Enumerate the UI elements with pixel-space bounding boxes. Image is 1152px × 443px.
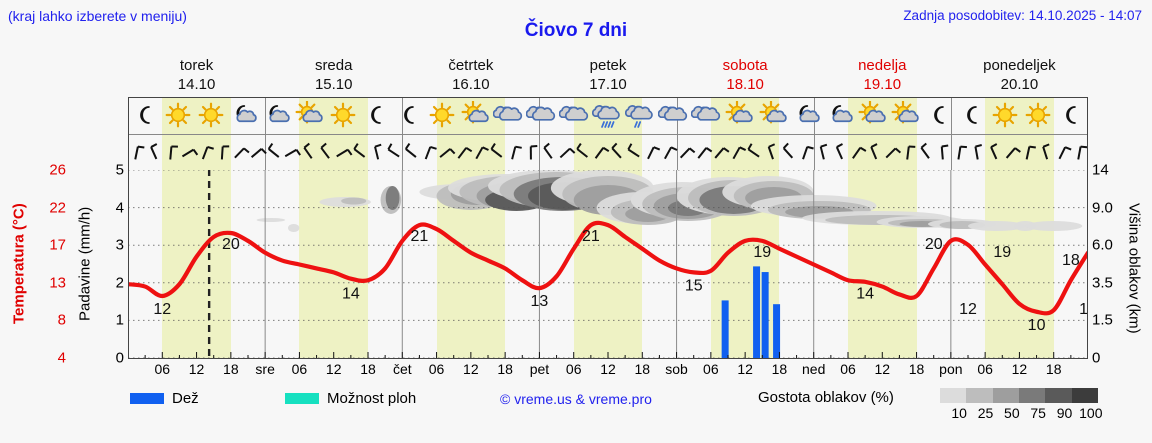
cloud-height-axis-title: Višina oblakov (km) xyxy=(1120,168,1148,368)
x-tick-label: 12 xyxy=(326,361,342,377)
moon-icon xyxy=(956,100,989,132)
rain-bar xyxy=(773,304,780,359)
temperature-label: 21 xyxy=(411,228,429,245)
temperature-label: 19 xyxy=(993,244,1011,261)
cloud-density-tick: 10 xyxy=(951,405,967,421)
cloud-density-scale-numbers: 1025507590100 xyxy=(936,405,1108,423)
cloud-drizzle-icon xyxy=(625,100,658,132)
showers-color-swatch xyxy=(285,393,319,404)
x-tick-label: 18 xyxy=(634,361,650,377)
temperature-label: 20 xyxy=(925,236,943,253)
legend-item-showers: Možnost ploh xyxy=(285,390,416,407)
temperature-label: 13 xyxy=(531,293,549,310)
precipitation-tick: 4 xyxy=(116,199,124,216)
rain-bar xyxy=(753,266,760,359)
cloud-height-tick: 14 xyxy=(1092,162,1109,179)
moon-icon xyxy=(1055,100,1088,132)
cloud-density-tick: 100 xyxy=(1079,405,1102,421)
temperature-axis-title: Temperatura (°C) xyxy=(6,168,32,360)
x-tick-label: 18 xyxy=(360,361,376,377)
x-tick-label: 18 xyxy=(223,361,239,377)
day-name: ponedeljek xyxy=(951,56,1088,75)
day-header-row: torek14.10sreda15.10četrtek16.10petek17.… xyxy=(128,56,1088,96)
x-tick-label: 06 xyxy=(154,361,170,377)
cloud-density-tick: 50 xyxy=(1004,405,1020,421)
forecast-graph: 122014211321151914201219101812 xyxy=(128,170,1088,359)
day-header-ponedeljek: ponedeljek20.10 xyxy=(951,56,1088,96)
cloud-density-swatch xyxy=(1072,388,1098,403)
temperature-tick: 8 xyxy=(58,312,66,329)
x-tick-label: čet xyxy=(393,361,412,377)
day-date: 20.10 xyxy=(951,75,1088,94)
day-name: nedelja xyxy=(814,56,951,75)
rain-bar xyxy=(722,300,729,359)
x-tick-label: 18 xyxy=(1046,361,1062,377)
temperature-label: 12 xyxy=(959,301,977,318)
temperature-label: 10 xyxy=(1028,317,1046,334)
temperature-tick: 17 xyxy=(49,237,66,254)
temperature-label: 20 xyxy=(222,236,240,253)
chart-canvas: 122014211321151914201219101812 xyxy=(128,170,1088,359)
cloud-rain-icon xyxy=(591,100,624,132)
temperature-label: 18 xyxy=(1062,252,1080,269)
sun-icon xyxy=(194,100,227,132)
day-header-četrtek: četrtek16.10 xyxy=(402,56,539,96)
cloud-density-tick: 25 xyxy=(978,405,994,421)
cloud-density-layer xyxy=(257,170,1083,232)
x-tick-label: sre xyxy=(255,361,274,377)
temperature-label: 14 xyxy=(342,285,360,302)
x-tick-label: 06 xyxy=(429,361,445,377)
day-header-torek: torek14.10 xyxy=(128,56,265,96)
cloud-icon xyxy=(492,100,525,132)
x-tick-label: 12 xyxy=(189,361,205,377)
cloud-density-swatch xyxy=(1019,388,1045,403)
cloud-height-tick: 9.0 xyxy=(1092,199,1113,216)
sun-icon xyxy=(1022,100,1055,132)
precipitation-tick: 5 xyxy=(116,162,124,179)
day-date: 16.10 xyxy=(402,75,539,94)
x-tick-label: sob xyxy=(665,361,688,377)
moon-icon xyxy=(922,100,955,132)
legend-label-showers: Možnost ploh xyxy=(327,390,416,407)
wind-barb-row xyxy=(128,135,1088,170)
temperature-label: 12 xyxy=(153,301,171,318)
sun-icon xyxy=(161,100,194,132)
rain-bar xyxy=(762,272,769,359)
precipitation-tick: 3 xyxy=(116,237,124,254)
x-tick-label: ned xyxy=(802,361,825,377)
day-name: sobota xyxy=(677,56,814,75)
legend: Dež Možnost ploh © vreme.us & vreme.pro … xyxy=(130,388,1142,430)
cloud-density-label: Gostota oblakov (%) xyxy=(758,389,894,406)
sun-cloud-icon xyxy=(459,100,492,132)
temperature-axis-ticks: 2622171384 xyxy=(32,160,66,368)
cloud-icon xyxy=(558,100,591,132)
day-name: petek xyxy=(539,56,676,75)
legend-item-rain: Dež xyxy=(130,390,199,407)
day-date: 15.10 xyxy=(265,75,402,94)
day-name: torek xyxy=(128,56,265,75)
x-axis-labels: 061218sre061218čet061218pet061218sob0612… xyxy=(128,361,1088,381)
day-date: 14.10 xyxy=(128,75,265,94)
moon-cloud-icon xyxy=(260,100,293,132)
sun-icon xyxy=(327,100,360,132)
rain-bars xyxy=(722,266,780,359)
day-header-sreda: sreda15.10 xyxy=(265,56,402,96)
cloud-density-tick: 75 xyxy=(1030,405,1046,421)
x-tick-label: 18 xyxy=(772,361,788,377)
x-tick-label: 18 xyxy=(909,361,925,377)
precipitation-tick: 0 xyxy=(116,350,124,367)
cloud-density-tick: 90 xyxy=(1057,405,1073,421)
cloud-density-scale xyxy=(940,388,1098,403)
moon-cloud-icon xyxy=(823,100,856,132)
sun-cloud-icon xyxy=(856,100,889,132)
sun-icon xyxy=(426,100,459,132)
weather-icon-row xyxy=(128,97,1088,135)
temperature-tick: 22 xyxy=(49,199,66,216)
cloud-height-tick: 6.0 xyxy=(1092,237,1113,254)
sun-icon xyxy=(989,100,1022,132)
x-tick-label: pet xyxy=(530,361,549,377)
wind-barbs xyxy=(128,135,1088,170)
sun-cloud-icon xyxy=(294,100,327,132)
temperature-label: 14 xyxy=(856,285,874,302)
rain-color-swatch xyxy=(130,393,164,404)
temperature-tick: 13 xyxy=(49,274,66,291)
temperature-label: 21 xyxy=(582,228,600,245)
cloud-icon xyxy=(691,100,724,132)
x-tick-label: 12 xyxy=(1012,361,1028,377)
x-tick-label: 12 xyxy=(600,361,616,377)
temperature-line xyxy=(128,223,1088,313)
day-header-nedelja: nedelja19.10 xyxy=(814,56,951,96)
moon-icon xyxy=(393,100,426,132)
temperature-tick: 4 xyxy=(58,350,66,367)
copyright-link[interactable]: © vreme.us & vreme.pro xyxy=(500,391,652,407)
precipitation-tick: 1 xyxy=(116,312,124,329)
cloud-height-tick: 1.5 xyxy=(1092,312,1113,329)
temperature-label: 19 xyxy=(753,244,771,261)
x-tick-label: 06 xyxy=(703,361,719,377)
precipitation-axis-ticks: 543210 xyxy=(98,160,124,368)
day-date: 18.10 xyxy=(677,75,814,94)
x-tick-label: 12 xyxy=(463,361,479,377)
cloud-icon xyxy=(525,100,558,132)
day-name: četrtek xyxy=(402,56,539,75)
temperature-label: 12 xyxy=(1079,301,1088,318)
sun-cloud-icon xyxy=(889,100,922,132)
cloud-density-swatch xyxy=(993,388,1019,403)
cloud-icon xyxy=(658,100,691,132)
moon-icon xyxy=(360,100,393,132)
cloud-height-tick: 0 xyxy=(1092,350,1100,367)
day-date: 17.10 xyxy=(539,75,676,94)
x-tick-label: pon xyxy=(939,361,962,377)
day-header-petek: petek17.10 xyxy=(539,56,676,96)
x-tick-label: 06 xyxy=(840,361,856,377)
temperature-label: 15 xyxy=(685,277,703,294)
precipitation-axis-title: Padavine (mm/h) xyxy=(72,168,98,360)
page-title: Čiovo 7 dni xyxy=(0,20,1152,42)
precipitation-tick: 2 xyxy=(116,274,124,291)
cloud-density-swatch xyxy=(1045,388,1071,403)
day-header-sobota: sobota18.10 xyxy=(677,56,814,96)
moon-cloud-icon xyxy=(227,100,260,132)
cloud-height-tick: 3.5 xyxy=(1092,274,1113,291)
x-tick-label: 06 xyxy=(292,361,308,377)
cloud-density-swatch xyxy=(940,388,966,403)
cloud-height-axis-ticks: 149.06.03.51.50 xyxy=(1092,160,1122,368)
legend-label-rain: Dež xyxy=(172,390,199,407)
cloud-density-swatch xyxy=(966,388,992,403)
sun-cloud-icon xyxy=(724,100,757,132)
day-name: sreda xyxy=(265,56,402,75)
day-date: 19.10 xyxy=(814,75,951,94)
sun-cloud-icon xyxy=(757,100,790,132)
last-updated-text: Zadnja posodobitev: 14.10.2025 - 14:07 xyxy=(903,8,1142,23)
temperature-tick: 26 xyxy=(49,162,66,179)
x-tick-label: 18 xyxy=(497,361,513,377)
moon-icon xyxy=(128,100,161,132)
moon-cloud-icon xyxy=(790,100,823,132)
x-tick-label: 12 xyxy=(737,361,753,377)
x-tick-label: 06 xyxy=(977,361,993,377)
x-tick-label: 12 xyxy=(874,361,890,377)
x-tick-label: 06 xyxy=(566,361,582,377)
